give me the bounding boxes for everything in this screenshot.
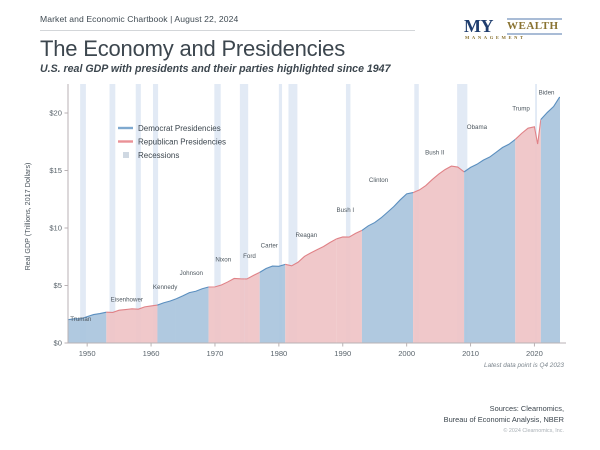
presidency-area-ford (244, 272, 259, 343)
sources-block: Sources: Clearnomics, Bureau of Economic… (444, 404, 564, 425)
company-logo: MY WEALTH MANAGEMENT (460, 16, 564, 42)
president-label-nixon: Nixon (215, 256, 231, 263)
legend-label-2: Recessions (138, 151, 179, 160)
y-tick-label: $15 (49, 166, 62, 175)
x-tick-label: 2010 (462, 349, 479, 358)
president-label-reagan: Reagan (295, 232, 317, 239)
x-tick-label: 1960 (143, 349, 160, 358)
legend-label-0: Democrat Presidencies (138, 124, 221, 133)
president-label-obama: Obama (467, 124, 488, 131)
x-tick-label: 1950 (79, 349, 96, 358)
presidency-area-carter (260, 264, 286, 343)
page-title: The Economy and Presidencies (40, 36, 345, 62)
president-label-carter: Carter (261, 243, 278, 250)
presidency-area-kennedy (157, 299, 176, 343)
president-label-bush-ii: Bush II (425, 149, 445, 156)
president-label-clinton: Clinton (369, 177, 389, 184)
x-tick-label: 1970 (207, 349, 224, 358)
y-axis-title: Real GDP (Trillions, 2017 Dollars) (23, 163, 32, 271)
presidency-area-biden (541, 97, 560, 343)
copyright-text: © 2024 Clearnomics, Inc. (503, 428, 564, 434)
x-tick-label: 2000 (398, 349, 415, 358)
presidency-area-clinton (362, 193, 413, 343)
y-tick-label: $10 (49, 224, 62, 233)
president-label-ford: Ford (243, 253, 256, 260)
presidency-area-trump (515, 119, 541, 343)
president-label-trump: Trump (512, 106, 530, 113)
sources-line-2: Bureau of Economic Analysis, NBER (444, 415, 564, 426)
logo-primary-text: MY (464, 17, 493, 35)
logo-secondary-text: WEALTH (507, 21, 559, 32)
recession-band (110, 84, 116, 343)
chart-svg: TrumanEisenhowerKennedyJohnsonNixonFordC… (0, 82, 600, 372)
presidency-area-bush-i (336, 230, 362, 343)
y-tick-label: $0 (54, 339, 62, 348)
y-tick-label: $20 (49, 109, 62, 118)
president-label-johnson: Johnson (180, 270, 204, 277)
presidency-area-nixon (209, 278, 245, 343)
legend-swatch-2 (123, 152, 129, 158)
presidency-area-obama (464, 139, 515, 343)
president-label-truman: Truman (70, 316, 92, 323)
sources-line-1: Sources: Clearnomics, (444, 404, 564, 415)
chart-slide: Market and Economic Chartbook | August 2… (0, 0, 600, 450)
page-subtitle: U.S. real GDP with presidents and their … (40, 63, 390, 75)
presidency-area-bush-ii (413, 166, 464, 343)
logo-tertiary-text: MANAGEMENT (465, 35, 526, 41)
gdp-presidencies-chart: TrumanEisenhowerKennedyJohnsonNixonFordC… (0, 82, 600, 372)
legend-label-1: Republican Presidencies (138, 137, 226, 146)
x-tick-label: 2020 (526, 349, 543, 358)
header-divider (40, 30, 415, 31)
president-label-bush-i: Bush I (337, 207, 355, 214)
president-label-eisenhower: Eisenhower (111, 297, 143, 304)
y-tick-label: $5 (54, 281, 62, 290)
recession-band (80, 84, 86, 343)
presidency-area-johnson (176, 287, 209, 343)
recession-band (136, 84, 141, 343)
recession-band (153, 84, 158, 343)
president-label-biden: Biden (539, 90, 555, 97)
president-label-kennedy: Kennedy (153, 284, 178, 291)
latest-data-note: Latest data point is Q4 2023 (484, 362, 564, 369)
x-tick-label: 1990 (334, 349, 351, 358)
x-tick-label: 1980 (270, 349, 287, 358)
